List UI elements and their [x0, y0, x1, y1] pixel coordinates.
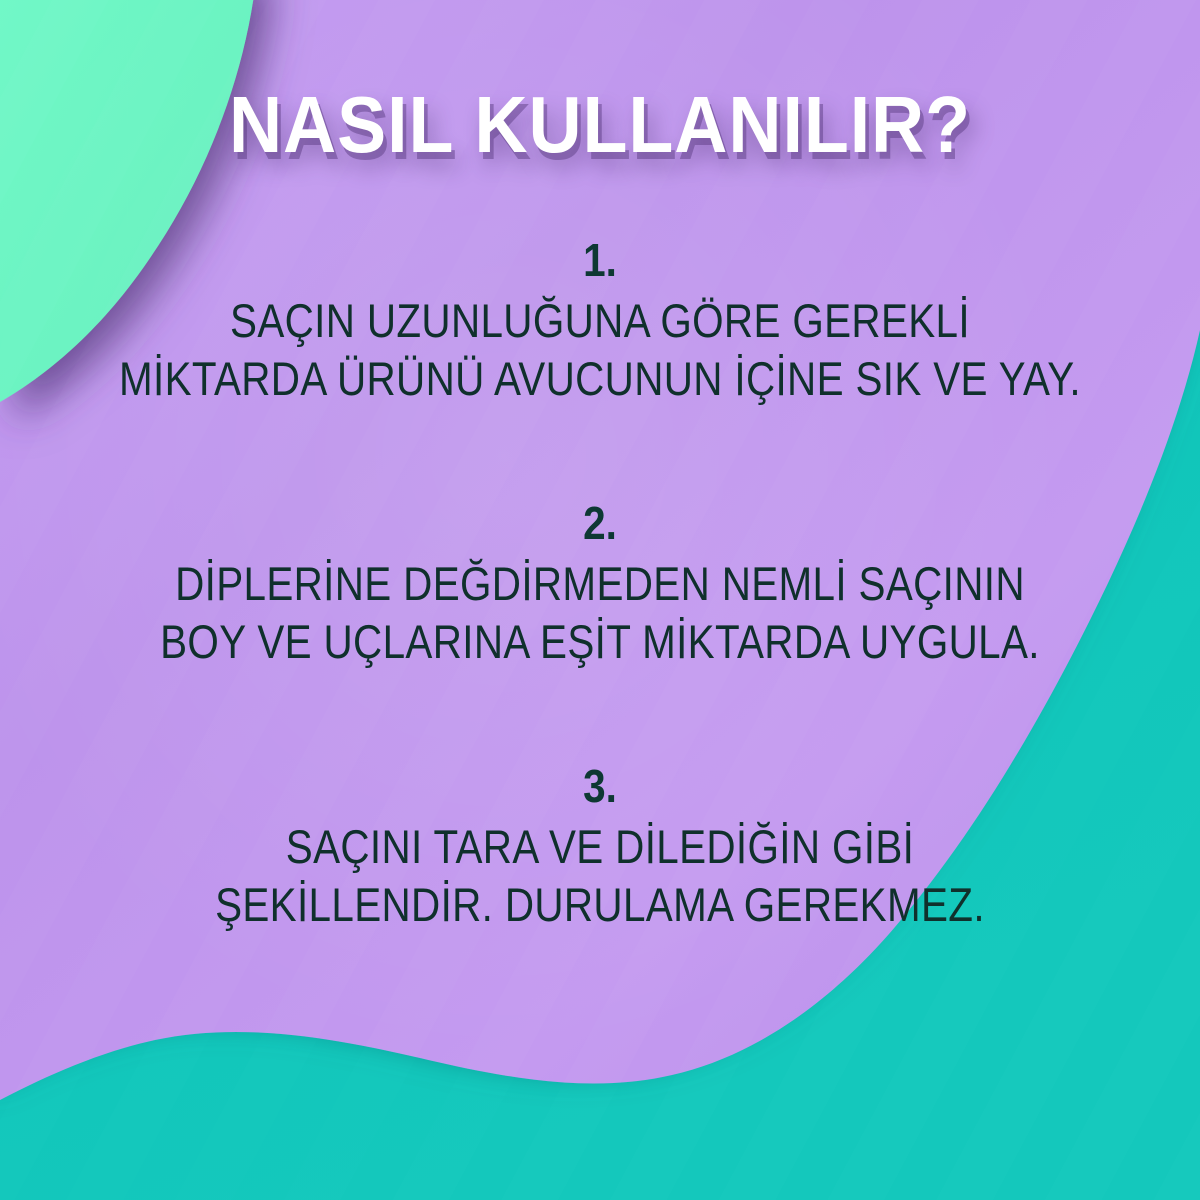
step-text-1: SAÇIN UZUNLUĞUNA GÖRE GEREKLİ MİKTARDA Ü… [0, 292, 1200, 407]
step-item-3: 3. SAÇINI TARA VE DİLEDİĞİN GİBİ ŞEKİLLE… [0, 762, 1200, 933]
step-line-3-2: ŞEKİLLENDİR. DURULAMA GEREKMEZ. [84, 876, 1116, 933]
step-line-3-1: SAÇINI TARA VE DİLEDİĞİN GİBİ [84, 818, 1116, 875]
step-line-2-2: BOY VE UÇLARINA EŞİT MİKTARDA UYGULA. [84, 613, 1116, 670]
poster-content: NASIL KULLANILIR? 1. SAÇIN UZUNLUĞUNA GÖ… [0, 0, 1200, 1200]
step-line-1-1: SAÇIN UZUNLUĞUNA GÖRE GEREKLİ [84, 292, 1116, 349]
step-text-2: DİPLERİNE DEĞDİRMEDEN NEMLİ SAÇININ BOY … [0, 555, 1200, 670]
step-number-1: 1. [72, 236, 1128, 284]
step-spacer-1 [0, 407, 1200, 499]
step-text-3: SAÇINI TARA VE DİLEDİĞİN GİBİ ŞEKİLLENDİ… [0, 818, 1200, 933]
step-line-1-2: MİKTARDA ÜRÜNÜ AVUCUNUN İÇİNE SIK VE YAY… [84, 350, 1116, 407]
step-line-2-1: DİPLERİNE DEĞDİRMEDEN NEMLİ SAÇININ [84, 555, 1116, 612]
step-number-2: 2. [72, 499, 1128, 547]
step-spacer-2 [0, 670, 1200, 762]
page-title: NASIL KULLANILIR? [48, 85, 1152, 165]
step-item-2: 2. DİPLERİNE DEĞDİRMEDEN NEMLİ SAÇININ B… [0, 499, 1200, 670]
step-item-1: 1. SAÇIN UZUNLUĞUNA GÖRE GEREKLİ MİKTARD… [0, 236, 1200, 407]
how-to-use-poster: NASIL KULLANILIR? 1. SAÇIN UZUNLUĞUNA GÖ… [0, 0, 1200, 1200]
steps-list: 1. SAÇIN UZUNLUĞUNA GÖRE GEREKLİ MİKTARD… [0, 236, 1200, 933]
step-number-3: 3. [72, 762, 1128, 810]
